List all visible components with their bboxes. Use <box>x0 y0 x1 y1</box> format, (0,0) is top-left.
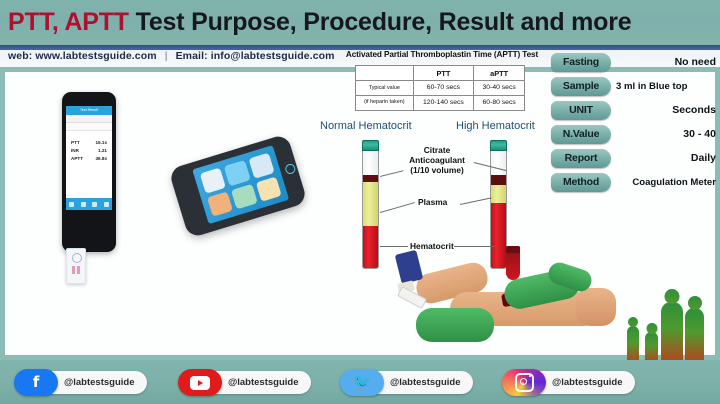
youtube-icon[interactable] <box>178 369 222 396</box>
info-row-sample: Sample 3 ml in Blue top <box>551 74 719 98</box>
table-row: Typical value 60-70 secs 30-40 secs <box>356 81 525 96</box>
toolbar-icon-4 <box>104 202 109 207</box>
row-ptt-value: 120-140 secs <box>413 96 474 111</box>
info-value: 3 ml in Blue top <box>611 81 719 92</box>
infographic-page: PTT, APTT Test Purpose, Procedure, Resul… <box>0 0 720 404</box>
reading-name: APTT <box>71 156 83 161</box>
social-item-youtube[interactable]: @labtestsguide <box>178 369 311 396</box>
app-icon-1 <box>200 167 226 193</box>
tube-normal-hematocrit <box>362 140 379 269</box>
device-screen: Test Result PTT 15.1s INR 1.21 APTT 36.8… <box>66 106 112 210</box>
contact-text: web: www.labtestsguide.com | Email: info… <box>8 50 335 62</box>
web-label: web: <box>8 50 32 62</box>
head-icon <box>665 289 680 304</box>
device-reading-row: APTT 36.8s <box>71 156 107 161</box>
blood-collection-tube-icon <box>506 246 520 280</box>
child-silhouette-1 <box>627 326 639 362</box>
info-value: 30 - 40 <box>611 128 719 140</box>
tube-high-hematocrit <box>490 140 507 269</box>
social-item-facebook[interactable]: f @labtestsguide <box>14 369 147 396</box>
tube-citrate-segment <box>362 175 379 182</box>
aptt-table-block: Activated Partial Thromboplastin Time (A… <box>333 50 551 111</box>
child-silhouette-2 <box>645 332 658 362</box>
leader-line <box>380 202 415 213</box>
app-icon-3 <box>248 153 274 179</box>
email-label: Email: <box>176 50 208 62</box>
normal-hematocrit-label: Normal Hematocrit <box>320 120 412 132</box>
info-value: Seconds <box>611 104 719 116</box>
instagram-icon[interactable] <box>502 369 546 396</box>
leader-line <box>454 246 494 247</box>
reading-name: INR <box>71 148 79 153</box>
info-value: Daily <box>611 152 719 164</box>
device-screen-field-2 <box>66 123 112 131</box>
info-label-pill: Sample <box>551 77 611 96</box>
patient-fist <box>576 288 616 326</box>
info-value: Coagulation Meter <box>611 177 719 188</box>
twitter-handle[interactable]: @labtestsguide <box>370 371 473 394</box>
row-label: (if heparin taken) <box>356 96 414 111</box>
strip-ring <box>72 253 82 263</box>
toolbar-icon-2 <box>81 202 86 207</box>
web-url[interactable]: www.labtestsguide.com <box>35 50 156 62</box>
tube-plasma-segment <box>362 182 379 226</box>
analyzer-screen <box>192 145 289 224</box>
app-icon-4 <box>207 191 233 217</box>
table-col-ptt: PTT <box>413 66 474 81</box>
device-screen-field-1 <box>66 115 112 123</box>
head-icon <box>628 317 638 327</box>
head-icon <box>688 296 702 310</box>
device-toolbar <box>66 198 112 210</box>
head-icon <box>646 323 657 334</box>
instagram-handle[interactable]: @labtestsguide <box>532 371 635 394</box>
tube-cap-icon <box>362 140 379 151</box>
table-row: (if heparin taken) 120-140 secs 60-80 se… <box>356 96 525 111</box>
info-row-fasting: Fasting No need <box>551 50 719 74</box>
tube-cap-icon <box>490 140 507 151</box>
social-item-twitter[interactable]: 🐦 @labtestsguide <box>340 369 473 396</box>
info-label-pill: Report <box>551 149 611 168</box>
app-icon-5 <box>231 183 257 209</box>
leader-line <box>380 246 408 247</box>
table-col-0 <box>356 66 414 81</box>
row-aptt-value: 30-40 secs <box>474 81 525 96</box>
info-label: N.Value <box>563 128 600 140</box>
device-screen-title: Test Result <box>80 108 98 112</box>
device-readings: PTT 15.1s INR 1.21 APTT 36.8s <box>66 131 112 161</box>
app-icon-2 <box>224 160 250 186</box>
adult-silhouette-1 <box>661 302 683 362</box>
tube-hematocrit-segment <box>362 226 379 269</box>
test-info-panel: Fasting No need Sample 3 ml in Blue top … <box>551 50 719 194</box>
tube-air-segment <box>362 151 379 175</box>
social-item-instagram[interactable]: @labtestsguide <box>502 369 635 396</box>
reading-name: PTT <box>71 140 80 145</box>
info-label-pill: Fasting <box>551 53 611 72</box>
test-strip <box>66 248 86 284</box>
title-rest: Test Purpose, Procedure, Result and more <box>129 8 632 36</box>
reading-value: 15.1s <box>96 140 108 145</box>
info-label: Report <box>565 152 598 164</box>
table-caption: Activated Partial Thromboplastin Time (A… <box>333 50 551 59</box>
high-hematocrit-label: High Hematocrit <box>456 120 535 132</box>
home-button-icon <box>284 163 296 175</box>
citrate-callout: Citrate Anticoagulant (1/10 volume) <box>398 146 476 176</box>
row-ptt-value: 60-70 secs <box>413 81 474 96</box>
tube-citrate-segment <box>490 175 507 185</box>
info-row-report: Report Daily <box>551 146 719 170</box>
analyzer-app-icons <box>200 153 282 217</box>
info-label: Sample <box>563 80 599 92</box>
adult-silhouette-2 <box>685 308 704 362</box>
aptt-table: PTT aPTT Typical value 60-70 secs 30-40 … <box>355 65 525 111</box>
coagulation-meter-device: Test Result PTT 15.1s INR 1.21 APTT 36.8… <box>62 92 116 252</box>
table-header-row: PTT aPTT <box>356 66 525 81</box>
toolbar-icon-1 <box>69 202 74 207</box>
plasma-callout: Plasma <box>418 198 447 208</box>
device-reading-row: INR 1.21 <box>71 148 107 153</box>
citrate-line-1: Citrate <box>424 145 451 155</box>
facebook-handle[interactable]: @labtestsguide <box>44 371 147 394</box>
contact-separator: | <box>160 50 173 62</box>
table-col-aptt: aPTT <box>474 66 525 81</box>
info-value: No need <box>611 56 719 68</box>
facebook-icon[interactable]: f <box>14 369 58 396</box>
info-label-pill: N.Value <box>551 125 611 144</box>
page-title: PTT, APTT Test Purpose, Procedure, Resul… <box>0 10 631 35</box>
tube-air-segment <box>490 151 507 175</box>
email-address[interactable]: info@labtestsguide.com <box>211 50 335 62</box>
youtube-handle[interactable]: @labtestsguide <box>208 371 311 394</box>
tube-plasma-segment <box>490 185 507 203</box>
title-highlight: PTT, APTT <box>8 8 129 36</box>
app-icon-6 <box>255 176 281 202</box>
tourniquet-cuff <box>395 250 424 284</box>
hematocrit-callout: Hematocrit <box>410 242 454 252</box>
info-label-pill: Method <box>551 173 611 192</box>
info-row-unit: UNIT Seconds <box>551 98 719 122</box>
info-label: Method <box>563 176 599 188</box>
gloved-hand-left <box>416 308 494 342</box>
info-row-method: Method Coagulation Meter <box>551 170 719 194</box>
leader-line <box>460 197 492 205</box>
row-label: Typical value <box>356 81 414 96</box>
info-label: UNIT <box>569 104 593 116</box>
toolbar-icon-3 <box>92 202 97 207</box>
reading-value: 1.21 <box>98 148 107 153</box>
venipuncture-illustration <box>398 252 638 360</box>
strip-band-1 <box>72 266 75 274</box>
info-label-pill: UNIT <box>551 101 611 120</box>
title-banner: PTT, APTT Test Purpose, Procedure, Resul… <box>0 0 720 45</box>
row-aptt-value: 60-80 secs <box>474 96 525 111</box>
family-silhouettes <box>627 292 715 362</box>
device-screen-titlebar: Test Result <box>66 106 112 115</box>
reading-value: 36.8s <box>96 156 108 161</box>
info-row-normal-value: N.Value 30 - 40 <box>551 122 719 146</box>
twitter-icon[interactable]: 🐦 <box>340 369 384 396</box>
info-label: Fasting <box>563 56 599 68</box>
strip-band-2 <box>77 266 80 274</box>
citrate-line-2: Anticoagulant <box>409 155 465 165</box>
device-reading-row: PTT 15.1s <box>71 140 107 145</box>
citrate-line-3: (1/10 volume) <box>410 165 464 175</box>
